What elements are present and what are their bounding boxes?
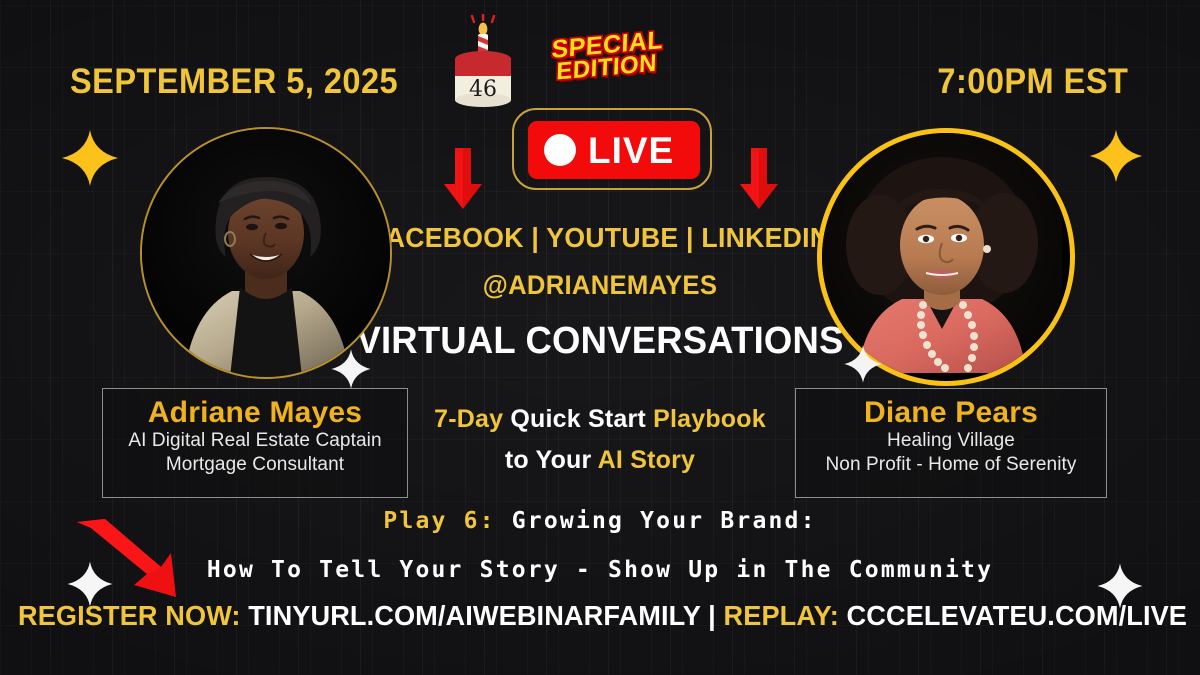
- replay-label: REPLAY:: [724, 600, 839, 631]
- speaker-sub2-right: Non Profit - Home of Serenity: [796, 453, 1106, 477]
- playbook-quickstart: Quick Start: [510, 405, 646, 433]
- special-edition-line2: EDITION: [556, 53, 657, 84]
- portrait-adriane-mayes: [140, 127, 392, 379]
- playbook-7day: 7-Day: [434, 405, 503, 433]
- sparkle-white-bottom-left: [66, 560, 114, 613]
- red-down-arrow-icon-left: [442, 148, 484, 210]
- speaker-card-right: Diane Pears Healing Village Non Profit -…: [795, 388, 1107, 498]
- playbook-toyour: to Your: [505, 446, 592, 474]
- register-separator: |: [708, 600, 716, 631]
- playbook-playbook: Playbook: [653, 405, 766, 433]
- special-edition-badge: SPECIAL EDITION: [524, 17, 689, 97]
- sparkle-gold-top-right: [1088, 128, 1144, 189]
- register-url[interactable]: TINYURL.COM/AIWEBINARFAMILY: [248, 600, 700, 631]
- sparkle-white-mid-left: [330, 348, 372, 395]
- speaker-sub2-left: Mortgage Consultant: [103, 453, 407, 477]
- promo-poster: SEPTEMBER 5, 2025 7:00PM EST: [0, 0, 1200, 675]
- birthday-cake-icon: 46: [447, 14, 519, 110]
- playbook-aistory: AI Story: [598, 446, 695, 474]
- red-down-arrow-icon-right: [738, 148, 780, 210]
- event-time: 7:00PM EST: [937, 62, 1128, 102]
- live-label: LIVE: [588, 132, 674, 169]
- live-badge[interactable]: LIVE: [528, 121, 700, 179]
- speaker-name-left: Adriane Mayes: [103, 397, 407, 429]
- event-date: SEPTEMBER 5, 2025: [70, 62, 398, 102]
- play-number-label: Play 6:: [383, 508, 495, 534]
- register-label: REGISTER NOW:: [18, 600, 241, 631]
- sparkle-white-bottom-right: [1096, 562, 1144, 615]
- record-dot-icon: [544, 134, 576, 166]
- speaker-name-right: Diane Pears: [796, 397, 1106, 429]
- play-topic: Growing Your Brand:: [512, 508, 817, 534]
- live-badge-outline: LIVE: [512, 108, 712, 190]
- cake-number: 46: [469, 77, 497, 102]
- register-line[interactable]: REGISTER NOW: TINYURL.COM/AIWEBINARFAMIL…: [18, 600, 1182, 632]
- speaker-sub1-left: AI Digital Real Estate Captain: [103, 429, 407, 453]
- speaker-card-left: Adriane Mayes AI Digital Real Estate Cap…: [102, 388, 408, 498]
- sparkle-gold-top-left: [60, 128, 120, 193]
- speaker-sub1-right: Healing Village: [796, 429, 1106, 453]
- sparkle-white-mid-right: [843, 344, 883, 389]
